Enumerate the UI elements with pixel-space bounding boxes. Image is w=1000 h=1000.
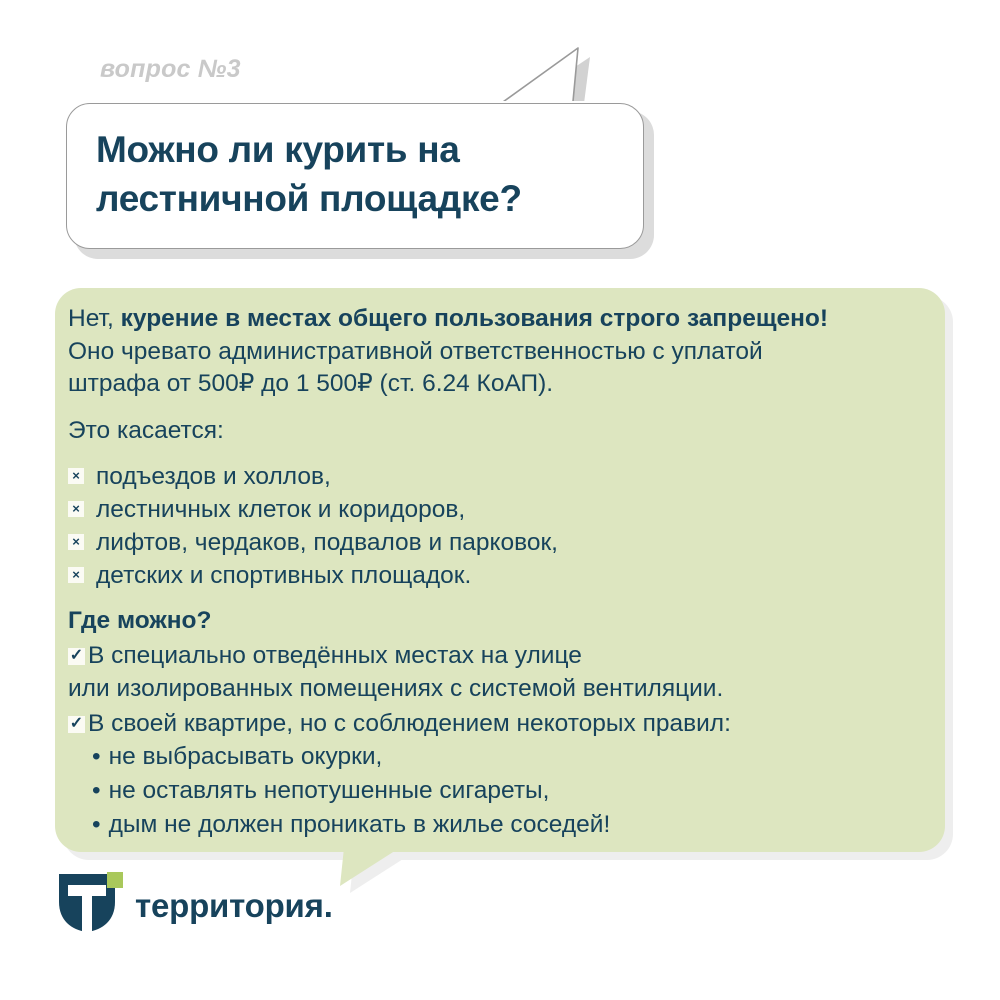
bullet-dot-icon: • bbox=[92, 777, 101, 804]
answer-intro-plain: Нет, bbox=[68, 305, 121, 332]
territoriya-shield-icon bbox=[57, 872, 123, 934]
bullet-dot-icon: • bbox=[92, 811, 101, 838]
list-item: × лифтов, чердаков, подвалов и парковок, bbox=[68, 525, 948, 558]
list-item-label: не выбрасывать окурки, bbox=[109, 743, 383, 770]
answer-content: Нет, курение в местах общего пользования… bbox=[68, 303, 948, 843]
check-icon: ✓ bbox=[68, 648, 85, 665]
applies-heading: Это касается: bbox=[68, 415, 948, 448]
cross-icon: × bbox=[68, 567, 84, 583]
where-list: ✓ В специально отведённых местах на улиц… bbox=[68, 639, 948, 741]
list-item-label: не оставлять непотушенные сигареты, bbox=[109, 777, 550, 804]
spacer bbox=[68, 591, 948, 605]
list-item: •не оставлять непотушенные сигареты, bbox=[68, 775, 948, 809]
list-item: ✓ В специально отведённых местах на улиц… bbox=[68, 639, 948, 673]
cross-icon: × bbox=[68, 468, 84, 484]
spacer bbox=[68, 401, 948, 415]
list-item-label: лифтов, чердаков, подвалов и парковок, bbox=[96, 527, 558, 560]
check-icon: ✓ bbox=[68, 716, 85, 733]
list-item-label: В своей квартире, но с соблюдением некот… bbox=[88, 708, 731, 741]
list-item: × подъездов и холлов, bbox=[68, 459, 948, 492]
list-item-label: дым не должен проникать в жилье соседей! bbox=[109, 811, 611, 838]
rules-list: •не выбрасывать окурки, •не оставлять не… bbox=[68, 741, 948, 843]
cross-icon: × bbox=[68, 501, 84, 517]
where-heading: Где можно? bbox=[68, 605, 948, 639]
applies-list: × подъездов и холлов, × лестничных клето… bbox=[68, 459, 948, 591]
list-item: × детских и спортивных площадок. bbox=[68, 558, 948, 591]
answer-intro: Нет, курение в местах общего пользования… bbox=[68, 303, 948, 401]
question-line-1: Можно ли курить на bbox=[96, 126, 656, 175]
list-item-label: подъездов и холлов, bbox=[96, 461, 331, 494]
where-continuation: или изолированных помещениях с системой … bbox=[68, 673, 948, 707]
answer-intro-line-1: Нет, курение в местах общего пользования… bbox=[68, 303, 948, 336]
question-text: Можно ли курить на лестничной площадке? bbox=[96, 126, 656, 224]
list-item: •дым не должен проникать в жилье соседей… bbox=[68, 809, 948, 843]
question-number-label: вопрос №3 bbox=[100, 55, 241, 84]
cross-icon: × bbox=[68, 534, 84, 550]
answer-intro-line-3: штрафа от 500₽ до 1 500₽ (ст. 6.24 КоАП)… bbox=[68, 368, 948, 401]
faq-card: вопрос №3 Можно ли курить на лестничной … bbox=[0, 0, 1000, 1000]
question-line-2: лестничной площадке? bbox=[96, 175, 656, 224]
list-item-label: детских и спортивных площадок. bbox=[96, 560, 471, 593]
list-item: •не выбрасывать окурки, bbox=[68, 741, 948, 775]
brand-name: территория. bbox=[135, 887, 333, 925]
list-item: × лестничных клеток и коридоров, bbox=[68, 492, 948, 525]
list-item-label: В специально отведённых местах на улице bbox=[88, 640, 582, 673]
spacer bbox=[68, 447, 948, 459]
list-item: ✓ В своей квартире, но с соблюдением нек… bbox=[68, 707, 948, 741]
brand-logo[interactable]: территория. bbox=[57, 872, 333, 934]
bullet-dot-icon: • bbox=[92, 743, 101, 770]
list-item-label: лестничных клеток и коридоров, bbox=[96, 494, 465, 527]
answer-intro-bold: курение в местах общего пользования стро… bbox=[121, 305, 828, 332]
answer-intro-line-2: Оно чревато административной ответственн… bbox=[68, 336, 948, 369]
